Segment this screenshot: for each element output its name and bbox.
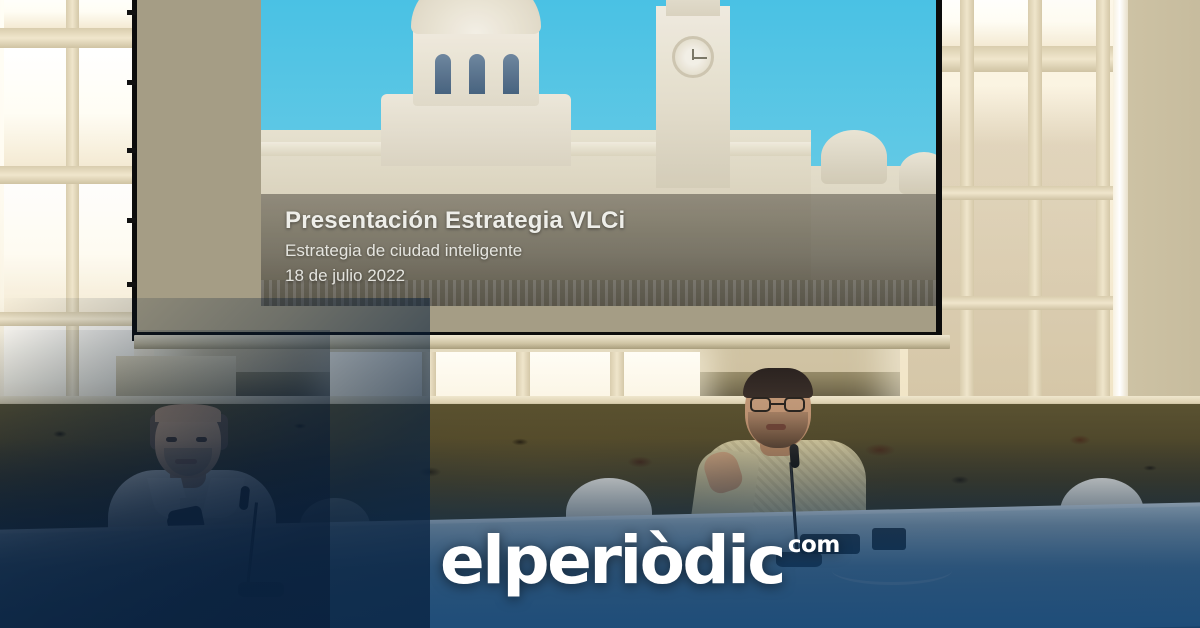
microphone-head — [789, 444, 800, 469]
logo-wordmark: elperiòdic — [440, 528, 784, 594]
eye — [196, 437, 207, 442]
screen-bracket — [127, 282, 136, 287]
window-pane — [1042, 0, 1096, 46]
window-pane — [78, 48, 134, 166]
dome-window — [503, 54, 519, 94]
dome-cupola — [411, 0, 541, 34]
screen-weight-bar — [134, 335, 950, 349]
clock-face — [672, 36, 714, 78]
window-mullion — [0, 28, 140, 48]
slide-date: 18 de julio 2022 — [285, 266, 625, 286]
dome-window — [469, 54, 485, 94]
window-mullion — [1096, 0, 1110, 444]
slide-subtitle: Estrategia de ciudad inteligente — [285, 241, 625, 261]
window-pane — [974, 0, 1028, 46]
eyeglasses — [750, 397, 771, 412]
clock-tower-belfry — [666, 0, 720, 16]
window-mullion — [66, 0, 79, 444]
screenshot-canvas: Presentación Estrategia VLCi Estrategia … — [0, 0, 1200, 628]
clock-tower — [656, 6, 730, 188]
window-mullion — [1028, 0, 1042, 444]
mouth — [766, 424, 786, 430]
screen-bracket — [127, 218, 136, 223]
eyeglasses-bridge — [771, 403, 784, 405]
logo-tld: com — [788, 532, 840, 558]
window-pane — [4, 48, 66, 166]
projection-screen: Presentación Estrategia VLCi Estrategia … — [132, 0, 942, 341]
mobile-phone — [872, 528, 906, 550]
window-pane — [4, 184, 66, 312]
dome-drum — [413, 28, 539, 106]
window-mullion — [0, 166, 140, 184]
screen-bracket — [127, 148, 136, 153]
eye — [166, 437, 177, 442]
window-mullion — [0, 312, 140, 326]
clock-hand-minute — [693, 57, 707, 59]
screen-bracket — [127, 80, 136, 85]
slide-title: Presentación Estrategia VLCi — [285, 207, 625, 235]
right-wall — [1128, 0, 1200, 448]
microphone-base — [238, 582, 284, 597]
screen-bracket — [127, 10, 136, 15]
window-pane — [78, 0, 134, 28]
screen-surface: Presentación Estrategia VLCi Estrategia … — [137, 0, 936, 332]
eyeglasses — [784, 397, 805, 412]
window-pane — [78, 184, 134, 312]
dome-window — [435, 54, 451, 94]
hair — [743, 368, 813, 398]
mouth — [175, 459, 197, 464]
slide-text-block: Presentación Estrategia VLCi Estrategia … — [285, 207, 625, 286]
window-mullion — [960, 0, 974, 444]
microphone-cable — [832, 556, 952, 585]
side-dome — [821, 130, 887, 184]
window-pane — [4, 0, 66, 28]
forehead — [155, 404, 221, 422]
elperiodic-logo[interactable]: elperiòdic com — [440, 528, 840, 594]
projected-slide: Presentación Estrategia VLCi Estrategia … — [261, 0, 936, 306]
side-dome — [899, 152, 936, 194]
